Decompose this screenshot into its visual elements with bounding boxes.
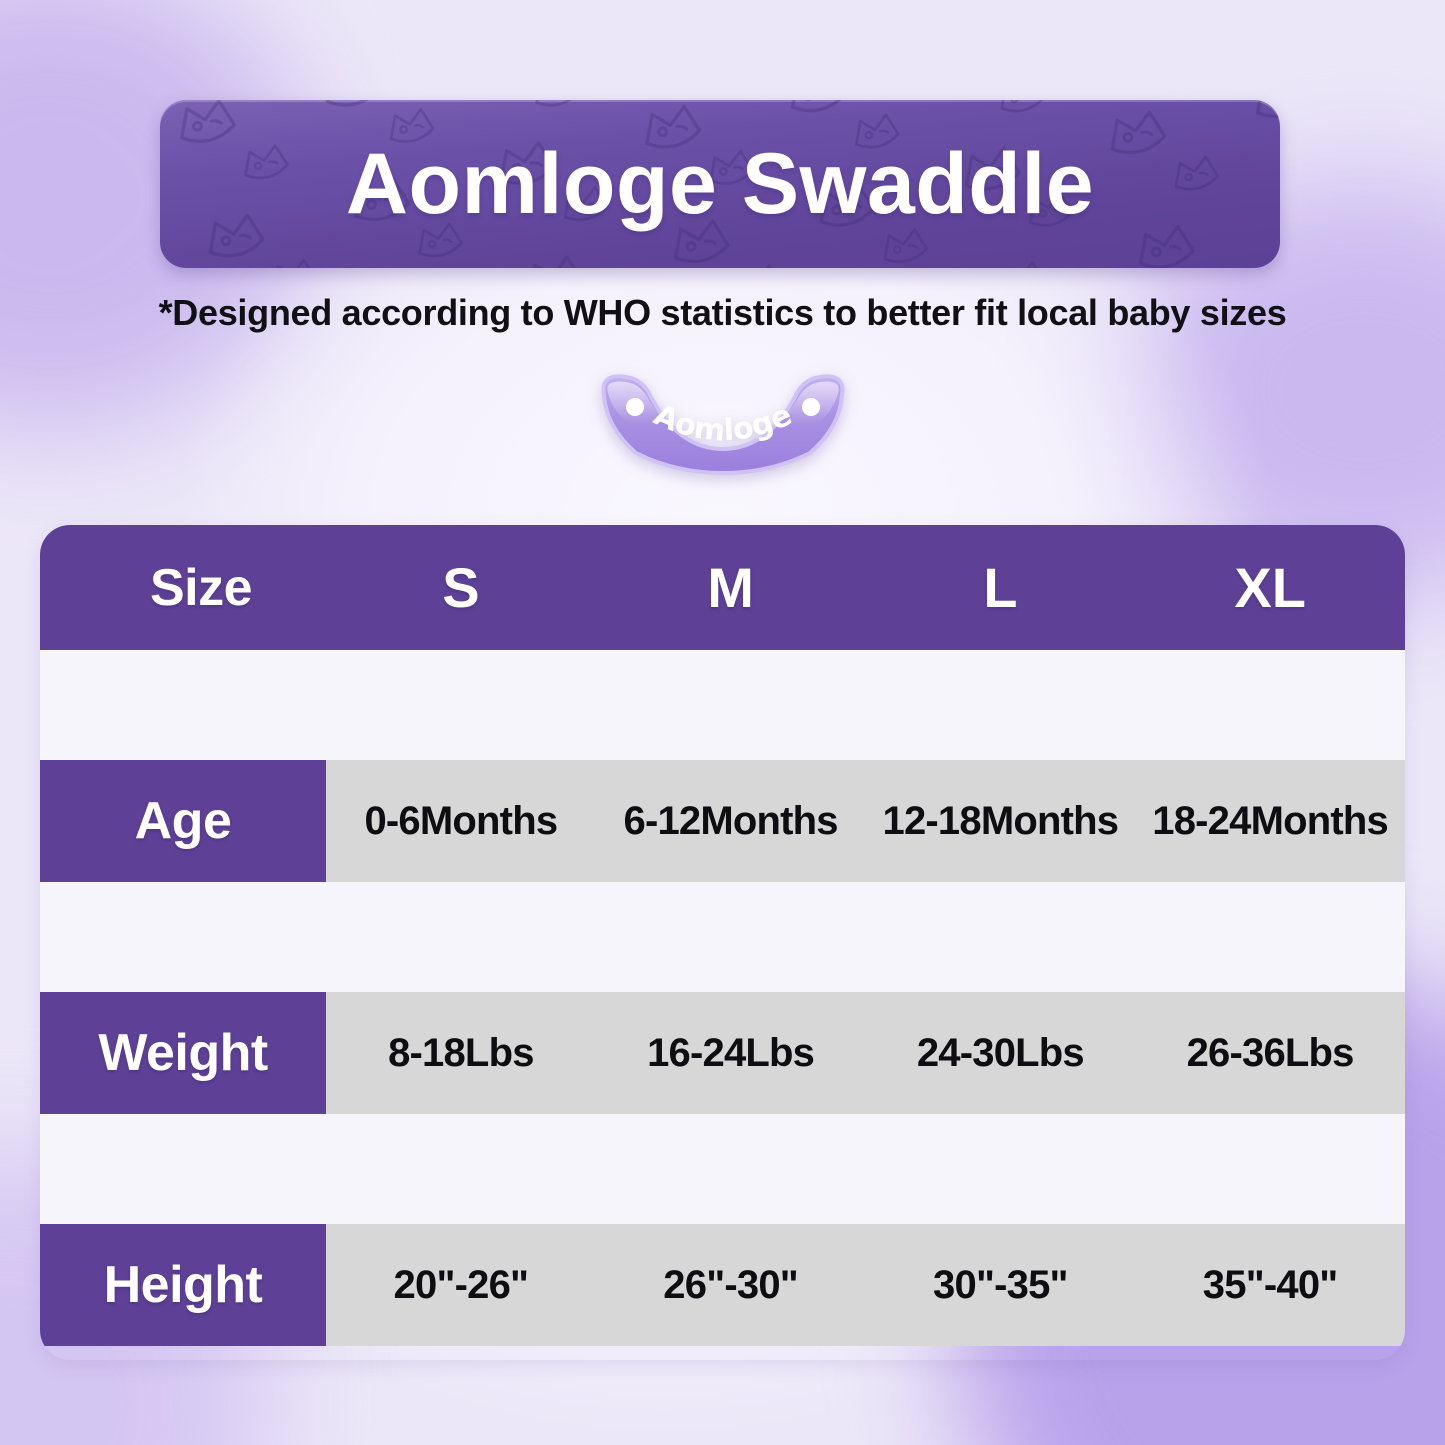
age-m: 6-12Months: [596, 799, 866, 844]
weight-m: 16-24Lbs: [596, 1031, 866, 1076]
header-size-cells: S M L XL: [326, 555, 1405, 620]
header-size-l: L: [866, 555, 1136, 620]
table-spacer-2: [40, 882, 1405, 992]
table-spacer-3: [40, 1114, 1405, 1224]
height-xl: 35"-40": [1135, 1263, 1405, 1308]
height-s: 20"-26": [326, 1263, 596, 1308]
age-l: 12-18Months: [866, 799, 1136, 844]
table-row-age: Age 0-6Months 6-12Months 12-18Months 18-…: [40, 760, 1405, 882]
title-banner: Aomloge Swaddle: [160, 100, 1280, 268]
row-label-age: Age: [40, 760, 326, 882]
row-cells-height: 20"-26" 26"-30" 30"-35" 35"-40": [326, 1224, 1405, 1346]
weight-l: 24-30Lbs: [866, 1031, 1136, 1076]
table-row-weight: Weight 8-18Lbs 16-24Lbs 24-30Lbs 26-36Lb…: [40, 992, 1405, 1114]
row-cells-age: 0-6Months 6-12Months 12-18Months 18-24Mo…: [326, 760, 1405, 882]
table-spacer-1: [40, 650, 1405, 760]
height-l: 30"-35": [866, 1263, 1136, 1308]
weight-s: 8-18Lbs: [326, 1031, 596, 1076]
table-header-row: Size S M L XL: [40, 525, 1405, 650]
brand-logo: Aomloge Aomloge: [578, 365, 868, 477]
header-size-m: M: [596, 555, 866, 620]
row-label-height: Height: [40, 1224, 326, 1346]
size-chart-table: Size S M L XL Age 0-6Months 6-12Months 1…: [40, 525, 1405, 1360]
size-chart-page: Aomloge Swaddle *Designed according to W…: [0, 0, 1445, 1445]
age-xl: 18-24Months: [1135, 799, 1405, 844]
weight-xl: 26-36Lbs: [1135, 1031, 1405, 1076]
age-s: 0-6Months: [326, 799, 596, 844]
height-m: 26"-30": [596, 1263, 866, 1308]
header-size-xl: XL: [1135, 555, 1405, 620]
header-size-s: S: [326, 555, 596, 620]
aomloge-badge-icon: Aomloge: [578, 365, 868, 477]
row-cells-weight: 8-18Lbs 16-24Lbs 24-30Lbs 26-36Lbs: [326, 992, 1405, 1114]
row-label-weight: Weight: [40, 992, 326, 1114]
header-size-label: Size: [40, 558, 326, 618]
banner-title: Aomloge Swaddle: [346, 141, 1094, 227]
table-row-height: Height 20"-26" 26"-30" 30"-35" 35"-40": [40, 1224, 1405, 1346]
subtitle-note: *Designed according to WHO statistics to…: [0, 292, 1445, 334]
